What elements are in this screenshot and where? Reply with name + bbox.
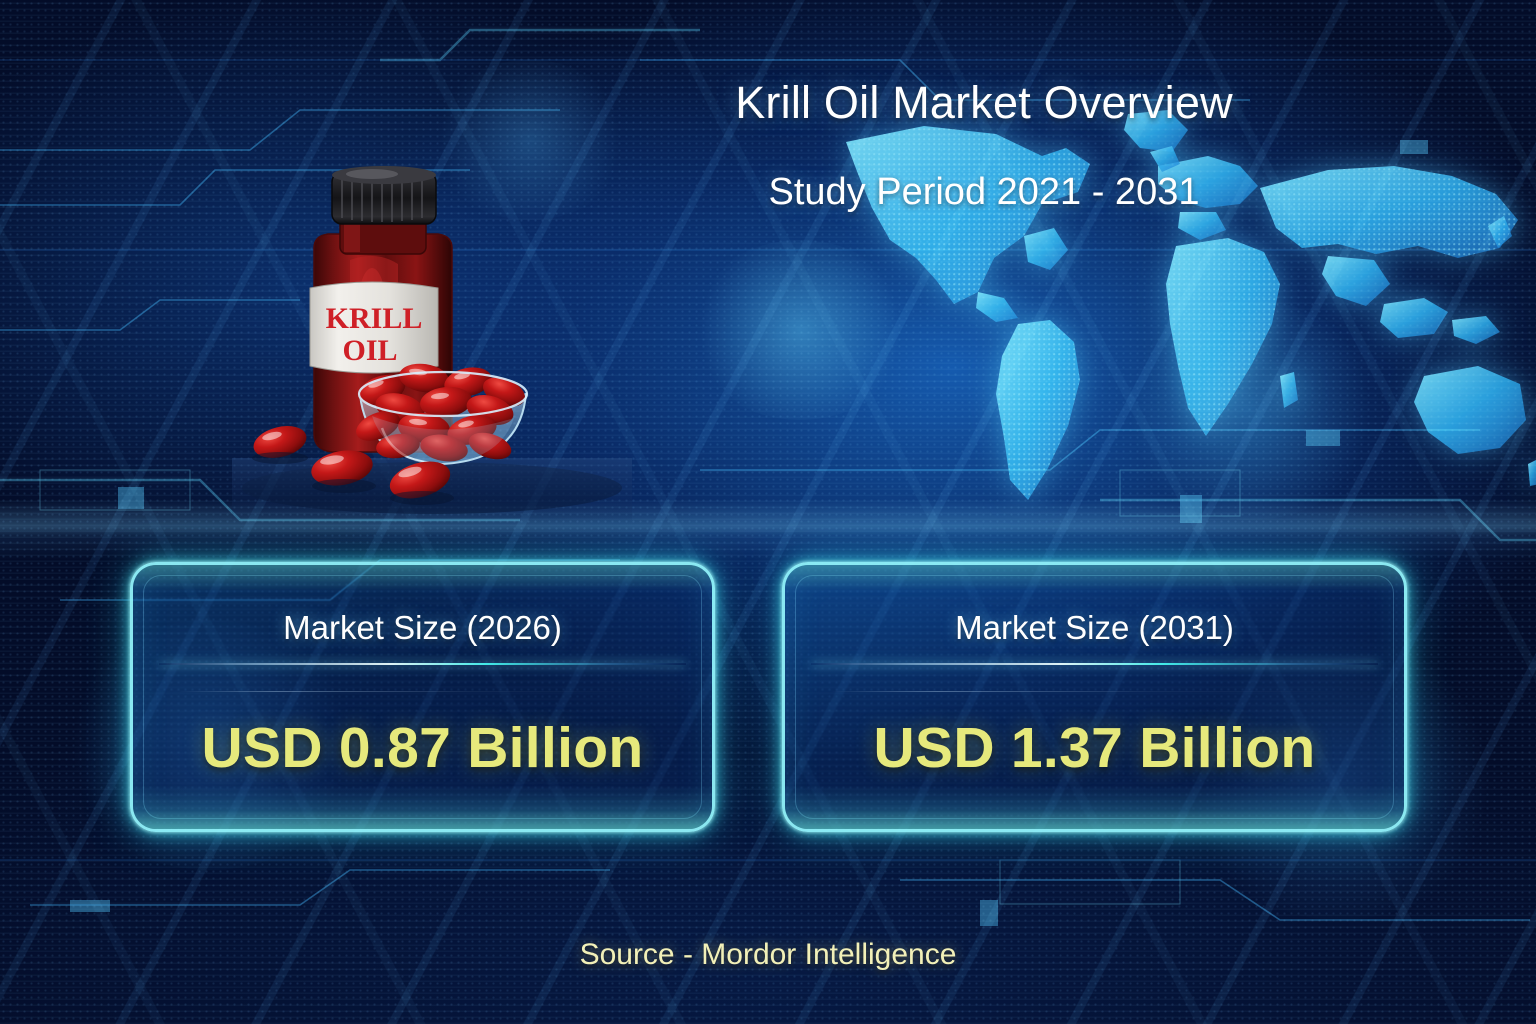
source-attribution: Source - Mordor Intelligence <box>0 938 1536 972</box>
infographic-canvas: KRILL OIL <box>0 0 1536 1024</box>
market-size-card-2031-value: USD 1.37 Billion <box>785 715 1404 781</box>
card-divider <box>811 663 1378 665</box>
study-period-subtitle: Study Period 2021 - 2031 <box>620 172 1348 214</box>
card-divider-secondary <box>179 691 666 692</box>
bottle-label-line1: KRILL <box>326 302 423 335</box>
market-size-card-2031[interactable]: Market Size (2031) USD 1.37 Billion <box>782 562 1407 832</box>
market-size-card-2026[interactable]: Market Size (2026) USD 0.87 Billion <box>130 562 715 832</box>
market-size-card-2026-value: USD 0.87 Billion <box>133 715 712 781</box>
page-title: Krill Oil Market Overview <box>600 78 1368 128</box>
card-bottom-sweep <box>133 785 712 831</box>
krill-oil-product-image: KRILL OIL <box>232 128 632 520</box>
card-top-sweep <box>133 563 712 591</box>
card-top-sweep <box>785 563 1404 591</box>
bottle-label-line2: OIL <box>342 334 397 367</box>
card-divider-secondary <box>831 691 1358 692</box>
card-bottom-sweep <box>785 785 1404 831</box>
market-size-card-2031-label: Market Size (2031) <box>785 609 1404 647</box>
background-ground-band <box>0 500 1536 560</box>
market-size-card-2026-label: Market Size (2026) <box>133 609 712 647</box>
card-divider <box>159 663 686 665</box>
